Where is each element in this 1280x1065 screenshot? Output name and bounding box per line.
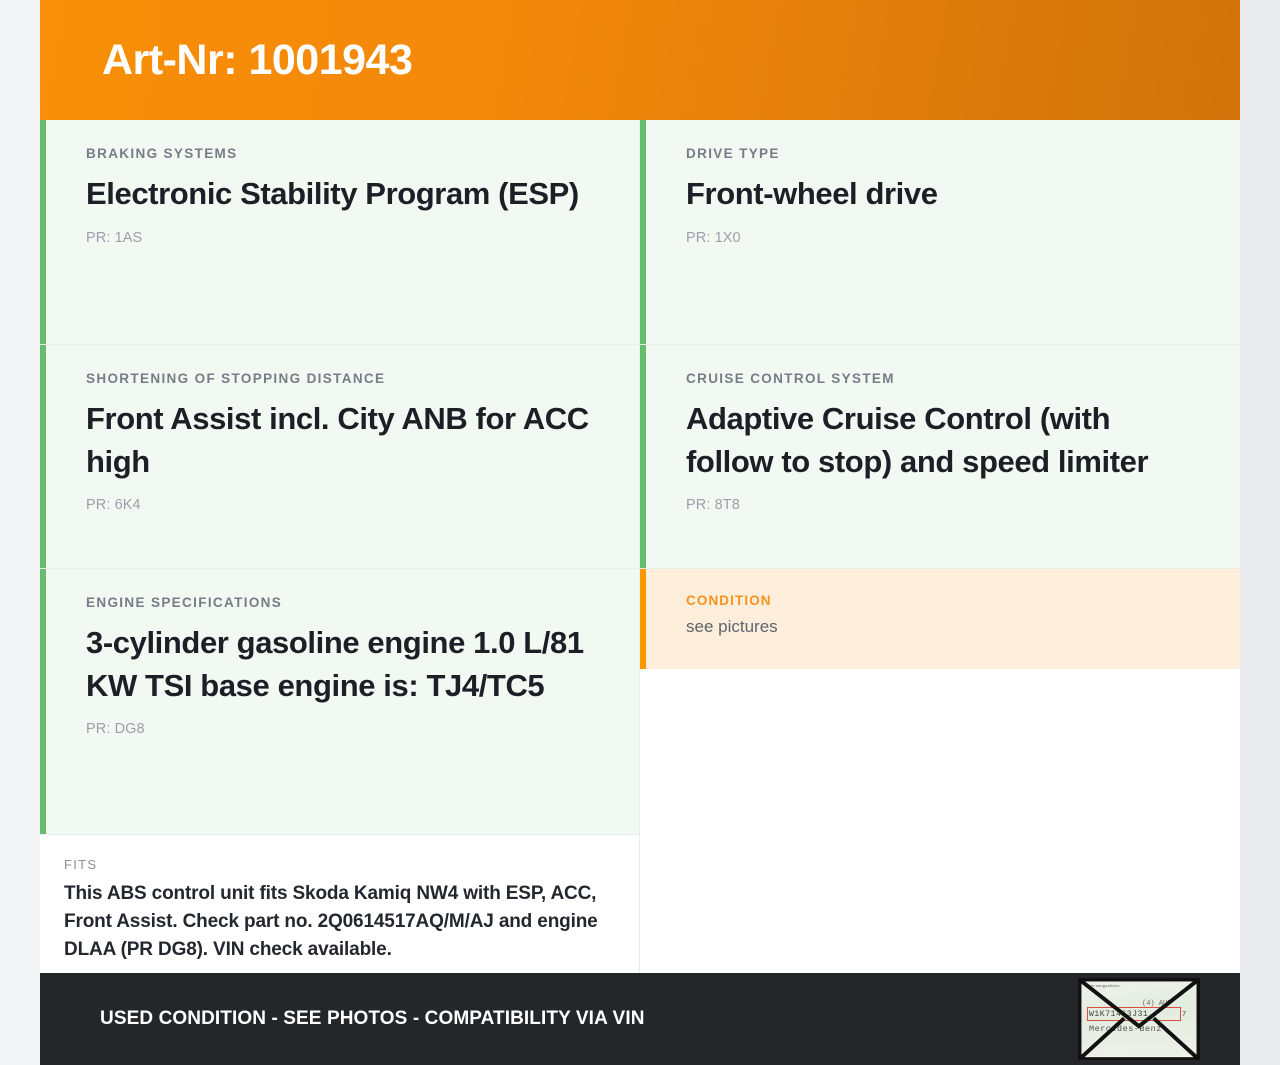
spec-grid: BRAKING SYSTEMS Electronic Stability Pro…: [40, 120, 1240, 973]
spec-card-pr-code: PR: 1X0: [686, 230, 1200, 246]
spec-card-title: Adaptive Cruise Control (with follow to …: [686, 398, 1200, 483]
spec-card-label: BRAKING SYSTEMS: [86, 146, 599, 162]
fits-label: FITS: [64, 857, 599, 872]
spec-card-label: SHORTENING OF STOPPING DISTANCE: [86, 371, 599, 387]
header-banner: Art-Nr: 1001943: [40, 0, 1240, 120]
spec-card-braking-systems: BRAKING SYSTEMS Electronic Stability Pro…: [40, 120, 639, 345]
left-column: BRAKING SYSTEMS Electronic Stability Pro…: [40, 120, 640, 973]
spec-card-stopping-distance: SHORTENING OF STOPPING DISTANCE Front As…: [40, 345, 639, 569]
spec-card-label: CRUISE CONTROL SYSTEM: [686, 371, 1200, 387]
spec-card-drive-type: DRIVE TYPE Front-wheel drive PR: 1X0: [640, 120, 1240, 345]
condition-label: CONDITION: [686, 593, 1200, 609]
vin-document-thumbnail[interactable]: Fahrzeugschein (4) AUF W1K71463J31 7 Mer…: [1078, 978, 1200, 1060]
spec-card-label: ENGINE SPECIFICATIONS: [86, 595, 599, 611]
footer-right: Fahrzeugschein (4) AUF W1K71463J31 7 Mer…: [1078, 978, 1200, 1060]
page-title: Art-Nr: 1001943: [102, 39, 412, 82]
spec-card-cruise-control: CRUISE CONTROL SYSTEM Adaptive Cruise Co…: [640, 345, 1240, 569]
spec-card-pr-code: PR: 8T8: [686, 497, 1200, 513]
spec-card-title: 3-cylinder gasoline engine 1.0 L/81 KW T…: [86, 622, 599, 707]
broken-image-envelope-icon: [1079, 979, 1199, 1060]
spec-card-condition: CONDITION see pictures: [640, 569, 1240, 669]
fits-description: This ABS control unit fits Skoda Kamiq N…: [64, 880, 599, 964]
spec-card-title: Front-wheel drive: [686, 173, 1200, 215]
right-column: DRIVE TYPE Front-wheel drive PR: 1X0 CRU…: [640, 120, 1240, 973]
listing-card: Art-Nr: 1001943 BRAKING SYSTEMS Electron…: [40, 0, 1240, 1065]
spec-card-title: Electronic Stability Program (ESP): [86, 173, 599, 215]
spec-card-pr-code: PR: 6K4: [86, 497, 599, 513]
footer-banner: USED CONDITION - SEE PHOTOS - COMPATIBIL…: [40, 973, 1240, 1065]
condition-value: see pictures: [686, 615, 1200, 639]
spec-card-title: Front Assist incl. City ANB for ACC high: [86, 398, 599, 483]
spec-card-pr-code: PR: 1AS: [86, 230, 599, 246]
spec-card-engine-specifications: ENGINE SPECIFICATIONS 3-cylinder gasolin…: [40, 569, 639, 835]
spec-card-pr-code: PR: DG8: [86, 721, 599, 737]
spec-card-label: DRIVE TYPE: [686, 146, 1200, 162]
fits-section: FITS This ABS control unit fits Skoda Ka…: [40, 835, 639, 992]
right-column-filler: [640, 669, 1240, 973]
footer-notice: USED CONDITION - SEE PHOTOS - COMPATIBIL…: [100, 1008, 645, 1030]
